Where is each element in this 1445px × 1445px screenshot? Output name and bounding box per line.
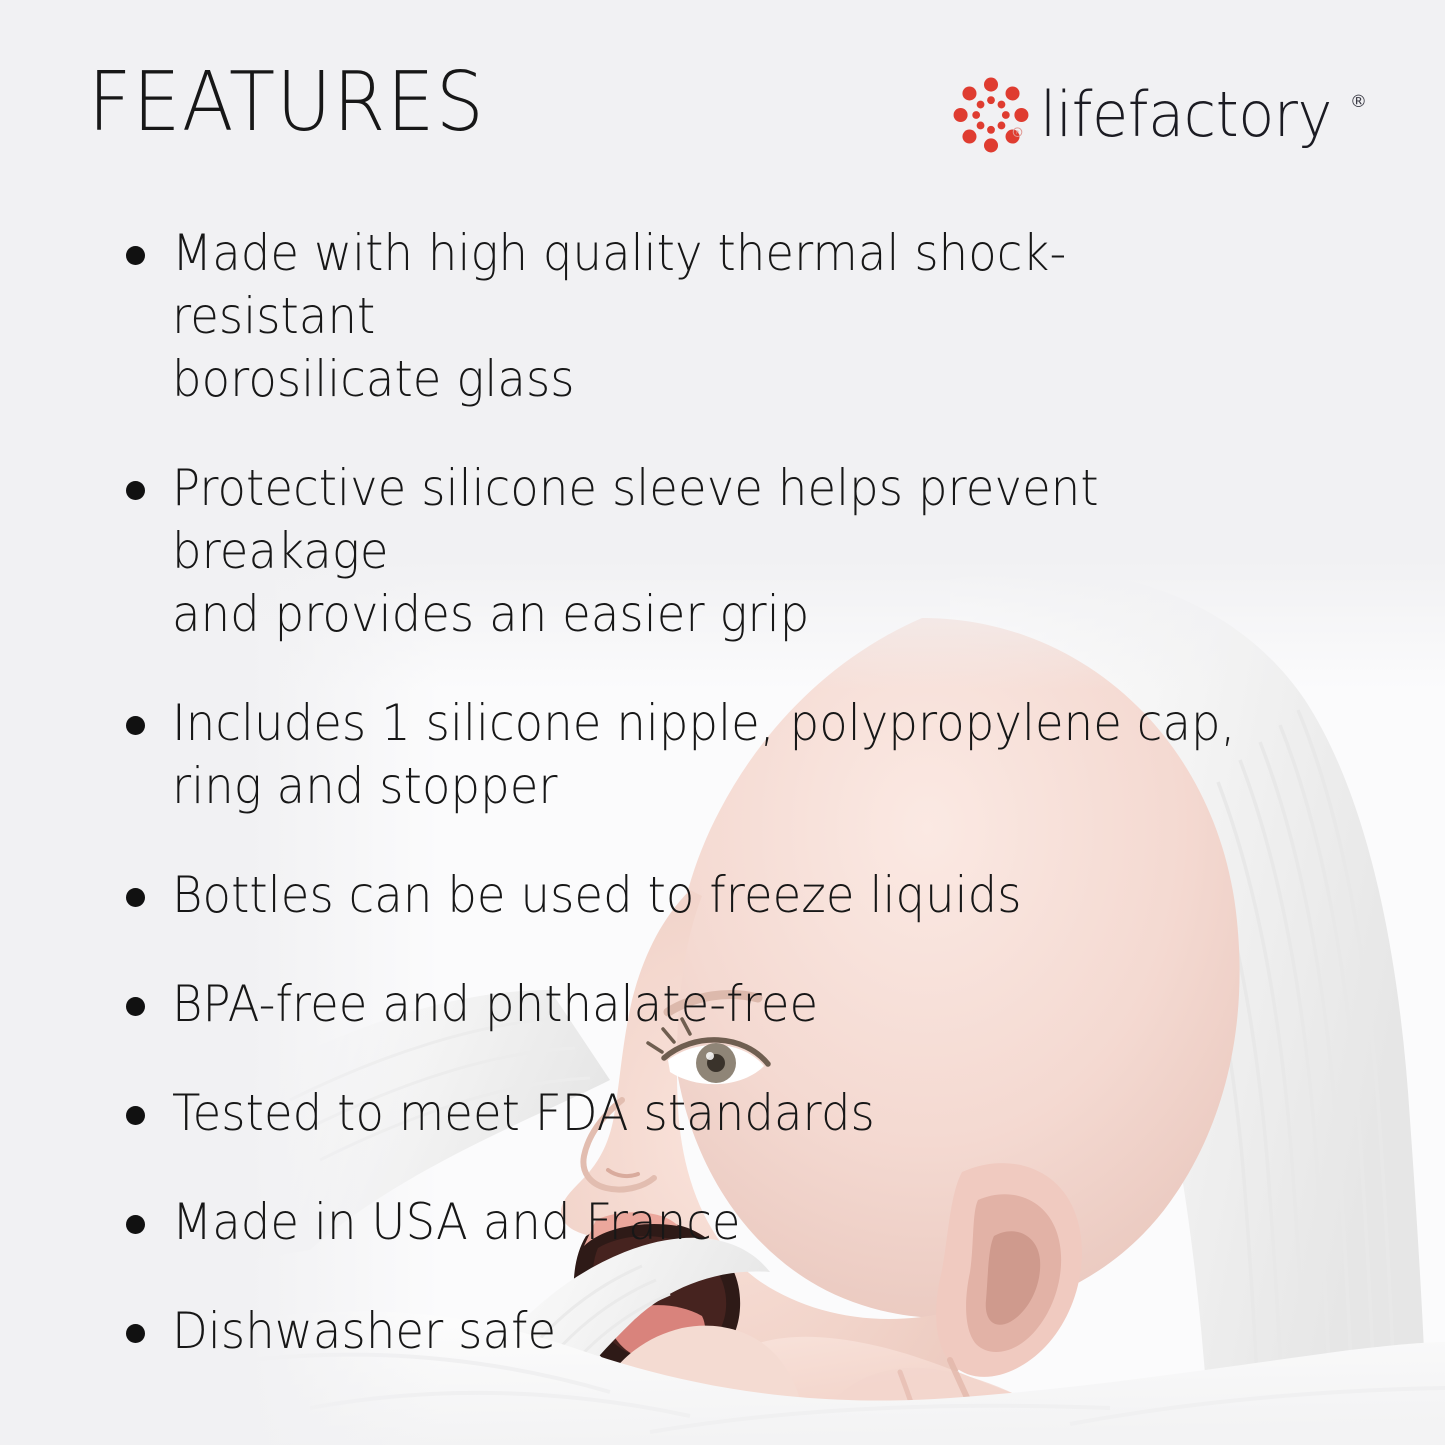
page-title: FEATURES <box>88 62 485 144</box>
bullet-icon <box>126 716 145 735</box>
brand-wordmark-group: lifefactory ® <box>1040 84 1367 146</box>
feature-text: BPA-free and phthalate-free <box>172 973 1266 1036</box>
feature-text: Includes 1 silicone nipple, polypropylen… <box>172 692 1266 818</box>
brand-wordmark: lifefactory <box>1040 84 1332 146</box>
feature-item: Made in USA and France <box>118 1191 1348 1254</box>
bullet-icon <box>126 997 145 1016</box>
features-slide: FEATURES <box>0 0 1445 1445</box>
bullet-icon <box>126 888 145 907</box>
feature-text: Dishwasher safe <box>172 1300 1266 1363</box>
features-list: Made with high quality thermal shock-res… <box>118 222 1348 1363</box>
registered-trademark-icon: ® <box>1350 92 1367 112</box>
lifefactory-mark-icon: R <box>952 76 1030 154</box>
feature-item: Made with high quality thermal shock-res… <box>118 222 1348 411</box>
bullet-icon <box>126 1215 145 1234</box>
feature-text: Bottles can be used to freeze liquids <box>172 864 1266 927</box>
feature-item: Includes 1 silicone nipple, polypropylen… <box>118 692 1348 818</box>
bullet-icon <box>126 481 145 500</box>
bullet-icon <box>126 246 145 265</box>
feature-text: Made in USA and France <box>172 1191 1266 1254</box>
feature-text: Tested to meet FDA standards <box>172 1082 1266 1145</box>
feature-item: BPA-free and phthalate-free <box>118 973 1348 1036</box>
feature-item: Dishwasher safe <box>118 1300 1348 1363</box>
feature-item: Protective silicone sleeve helps prevent… <box>118 457 1348 646</box>
feature-item: Tested to meet FDA standards <box>118 1082 1348 1145</box>
feature-item: Bottles can be used to freeze liquids <box>118 864 1348 927</box>
feature-text: Protective silicone sleeve helps prevent… <box>172 457 1266 646</box>
bullet-icon <box>126 1106 145 1125</box>
bullet-icon <box>126 1324 145 1343</box>
brand-logo: R lifefactory ® <box>952 76 1367 154</box>
feature-text: Made with high quality thermal shock-res… <box>172 222 1266 411</box>
slide-header: FEATURES <box>0 0 1445 200</box>
